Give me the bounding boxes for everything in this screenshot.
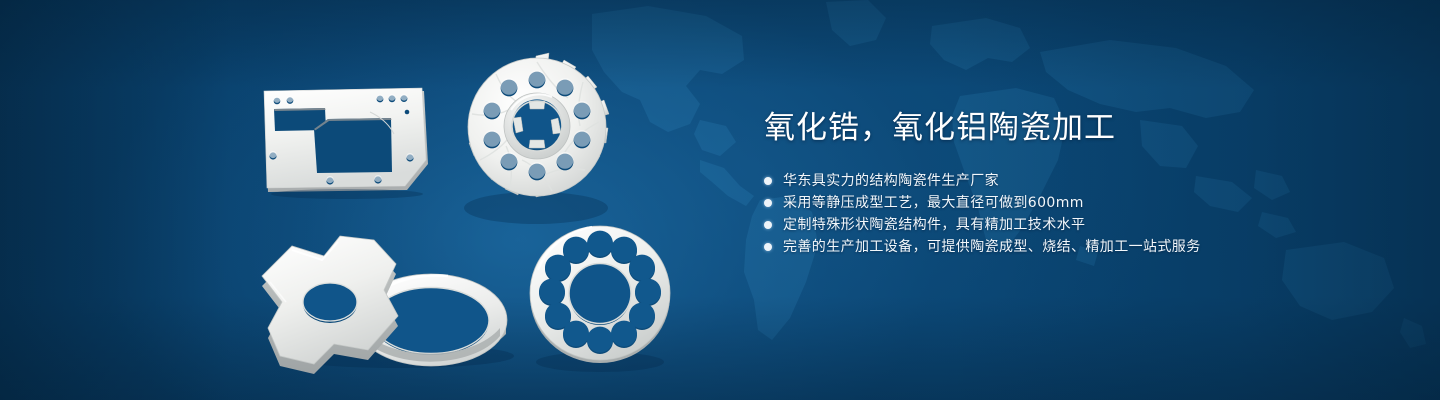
- hero-banner: 氧化锆，氧化铝陶瓷加工 华东具实力的结构陶瓷件生产厂家 采用等静压成型工艺，最大…: [0, 0, 1440, 400]
- banner-copy: 氧化锆，氧化铝陶瓷加工 华东具实力的结构陶瓷件生产厂家 采用等静压成型工艺，最大…: [764, 108, 1384, 258]
- product-image-group: [0, 0, 760, 400]
- list-item: 采用等静压成型工艺，最大直径可做到600mm: [764, 192, 1384, 214]
- list-item: 定制特殊形状陶瓷结构件，具有精加工技术水平: [764, 214, 1384, 236]
- feature-text: 华东具实力的结构陶瓷件生产厂家: [783, 170, 999, 192]
- page-title: 氧化锆，氧化铝陶瓷加工: [764, 108, 1384, 148]
- bullet-dot-icon: [764, 221, 772, 229]
- bullet-dot-icon: [764, 177, 772, 185]
- ceramic-cross-and-ring-image: [248, 224, 520, 372]
- ceramic-impeller-image: [448, 48, 628, 233]
- feature-list: 华东具实力的结构陶瓷件生产厂家 采用等静压成型工艺，最大直径可做到600mm 定…: [764, 170, 1384, 258]
- bullet-dot-icon: [764, 243, 772, 251]
- list-item: 完善的生产加工设备，可提供陶瓷成型、烧结、精加工一站式服务: [764, 236, 1384, 258]
- feature-text: 完善的生产加工设备，可提供陶瓷成型、烧结、精加工一站式服务: [783, 236, 1201, 258]
- feature-text: 定制特殊形状陶瓷结构件，具有精加工技术水平: [783, 214, 1085, 236]
- bullet-dot-icon: [764, 199, 772, 207]
- list-item: 华东具实力的结构陶瓷件生产厂家: [764, 170, 1384, 192]
- feature-text: 采用等静压成型工艺，最大直径可做到600mm: [783, 192, 1084, 214]
- ceramic-plate-image: [252, 72, 442, 202]
- ceramic-hole-disc-image: [518, 218, 682, 378]
